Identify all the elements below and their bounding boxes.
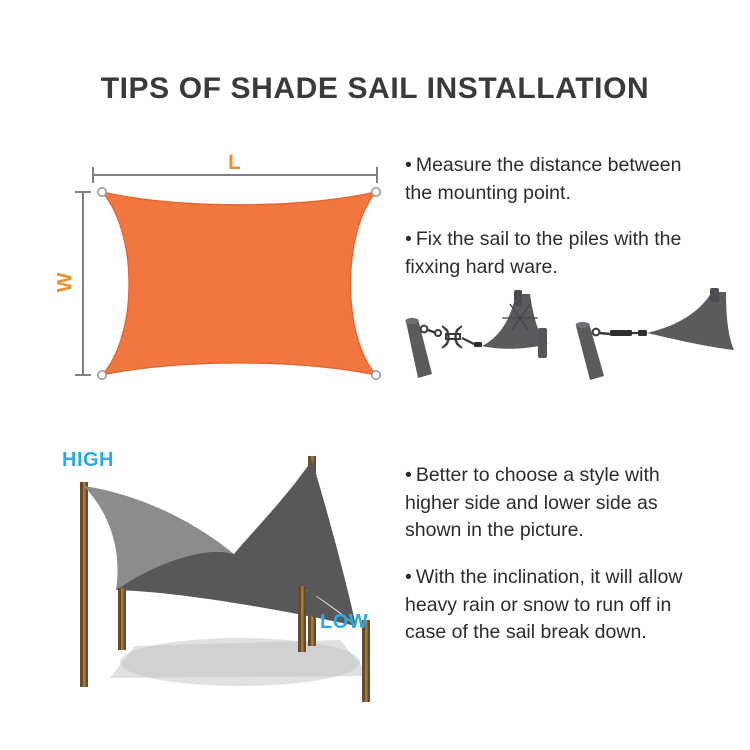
- post-front-right: [298, 586, 306, 652]
- low-corner-label: LOW: [320, 612, 368, 632]
- post-back-left: [80, 482, 88, 687]
- hardware-diagram-left: [398, 288, 578, 380]
- tip-line: •With the inclination, it will allow: [405, 564, 750, 592]
- tip-line: the mounting point.: [405, 180, 750, 208]
- shackle-icon: [593, 329, 610, 336]
- high-corner-label: HIGH: [62, 450, 114, 470]
- sail-corner-triangle: [647, 288, 734, 350]
- page-title: TIPS OF SHADE SAIL INSTALLATION: [0, 72, 750, 106]
- bullet-icon: •: [405, 564, 412, 592]
- tip-line: heavy rain or snow to run off in: [405, 592, 750, 620]
- turnbuckle-icon: [442, 326, 482, 348]
- bullet-icon: •: [405, 226, 412, 254]
- tip-text: Fix the sail to the piles with the: [416, 228, 682, 250]
- bullet-icon: •: [405, 462, 412, 490]
- tip-paragraph: •Fix the sail to the piles with the fixx…: [405, 226, 750, 281]
- ground-shadow-quad: [110, 640, 370, 678]
- tips-block-measure-fix: •Measure the distance between the mounti…: [405, 152, 750, 282]
- width-dimension-label: W: [54, 273, 75, 293]
- bullet-icon: •: [405, 152, 412, 180]
- post-front-left: [118, 588, 126, 650]
- hypar-canopy-diagram: [40, 440, 410, 705]
- tip-paragraph: •Better to choose a style with higher si…: [405, 462, 750, 545]
- tip-line: •Fix the sail to the piles with the: [405, 226, 750, 254]
- tip-line: fixxing hard ware.: [405, 254, 750, 282]
- tip-line: •Measure the distance between: [405, 152, 750, 180]
- shackle-icon: [421, 326, 441, 336]
- infographic-page: TIPS OF SHADE SAIL INSTALLATION L W: [0, 0, 750, 750]
- rectangular-sail-diagram: [60, 145, 400, 405]
- tip-line: shown in the picture.: [405, 517, 750, 545]
- tip-line: •Better to choose a style with: [405, 462, 750, 490]
- sail-corner-triangle: [482, 290, 548, 358]
- tip-paragraph: •Measure the distance between the mounti…: [405, 152, 750, 207]
- sail-body: [102, 192, 376, 375]
- tip-text: Better to choose a style with: [416, 464, 660, 486]
- tip-line: case of the sail break down.: [405, 619, 750, 647]
- hardware-diagram-right: [566, 288, 750, 380]
- tip-text: With the inclination, it will allow: [416, 566, 683, 588]
- tip-paragraph: •With the inclination, it will allow hea…: [405, 564, 750, 647]
- tip-text: Measure the distance between: [416, 154, 682, 176]
- length-dimension-label: L: [228, 152, 241, 173]
- tip-line: higher side and lower side as: [405, 490, 750, 518]
- tips-block-style-inclination: •Better to choose a style with higher si…: [405, 462, 750, 647]
- turnbuckle-icon: [610, 330, 647, 336]
- mounting-pole-icon: [405, 318, 432, 378]
- width-dimension-line: [75, 192, 91, 375]
